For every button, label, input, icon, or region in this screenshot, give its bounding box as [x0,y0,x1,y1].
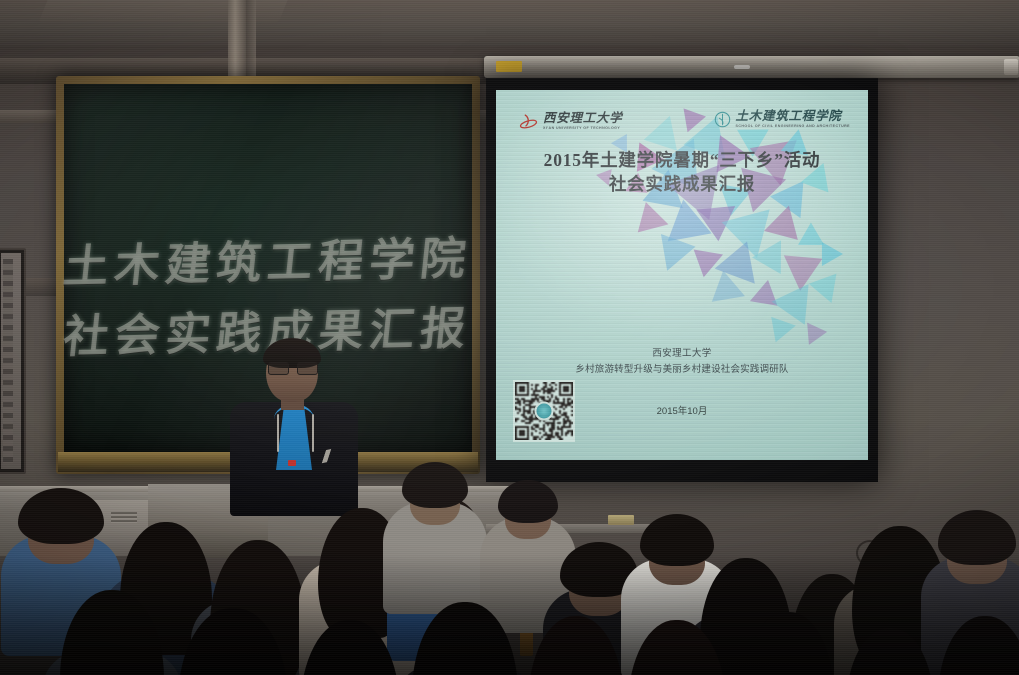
wall-notice-text-lines [3,259,13,463]
slide-triangle [809,274,846,308]
slide-subtitle-line-1: 西安理工大学 [496,346,868,362]
audience-member-hair [18,488,104,544]
roller-end-cap [1004,59,1018,75]
school-logo-mark-icon [714,111,731,128]
audience-member-hair [938,510,1016,565]
presenter-hoodie-drawstring [312,414,314,452]
presenter-glasses-icon [268,362,316,373]
slide-title: 2015年土建学院暑期“三下乡”活动 社会实践成果汇报 [496,150,868,197]
slide-triangle [771,313,798,342]
slide-triangle [745,280,777,314]
university-name-cn: 西安理工大学 [543,112,623,125]
projector-screen-roller[interactable] [484,56,1019,78]
audience-member-hair [640,514,714,566]
qr-code[interactable] [513,380,575,442]
blackboard-chalk-line-1: 土木建筑工程学院 [60,222,476,296]
university-name-en: XI'AN UNIVERSITY OF TECHNOLOGY [543,127,623,131]
university-logo-text: 西安理工大学 XI'AN UNIVERSITY OF TECHNOLOGY [543,112,623,130]
school-logo-text: 土木建筑工程学院 SCHOOL OF CIVIL ENGINEERING AND… [736,110,850,128]
wall-notice-frame [0,248,26,474]
presenter-hoodie-drawstring [277,414,279,452]
glasses-lens-left [268,362,289,375]
university-logo: 西安理工大学 XI'AN UNIVERSITY OF TECHNOLOGY [519,112,623,130]
school-name-en: SCHOOL OF CIVIL ENGINEERING AND ARCHITEC… [736,125,850,129]
audience-member-hair [498,480,558,523]
qr-code-center-logo-icon [535,402,554,421]
ceiling [0,0,1019,46]
presenter-badge [288,460,296,466]
classroom-scene: 土木建筑工程学院 社会实践成果汇报 西安理工大学 XI'AN UNIVERSIT… [0,0,1019,675]
roller-warning-label [496,61,522,72]
wall-notice-paper [1,253,21,469]
audience-seating [0,470,1019,675]
slide-triangle [650,234,696,277]
school-logo: 土木建筑工程学院 SCHOOL OF CIVIL ENGINEERING AND… [714,110,850,128]
glasses-lens-right [297,362,318,375]
roller-highlight [734,65,750,69]
slide-triangle [638,202,673,239]
slide-triangle [644,111,687,151]
slide-title-line-2: 社会实践成果汇报 [496,172,868,197]
slide-triangle [822,242,843,266]
projection-screen: 西安理工大学 XI'AN UNIVERSITY OF TECHNOLOGY 土木… [486,78,878,482]
presentation-slide: 西安理工大学 XI'AN UNIVERSITY OF TECHNOLOGY 土木… [496,90,868,460]
school-name-cn: 土木建筑工程学院 [736,110,850,123]
slide-subtitle: 西安理工大学 乡村旅游转型升级与美丽乡村建设社会实践调研队 [496,346,868,378]
university-logo-mark-icon [519,113,538,130]
slide-title-line-1: 2015年土建学院暑期“三下乡”活动 [496,150,868,172]
slide-subtitle-line-2: 乡村旅游转型升级与美丽乡村建设社会实践调研队 [496,362,868,378]
